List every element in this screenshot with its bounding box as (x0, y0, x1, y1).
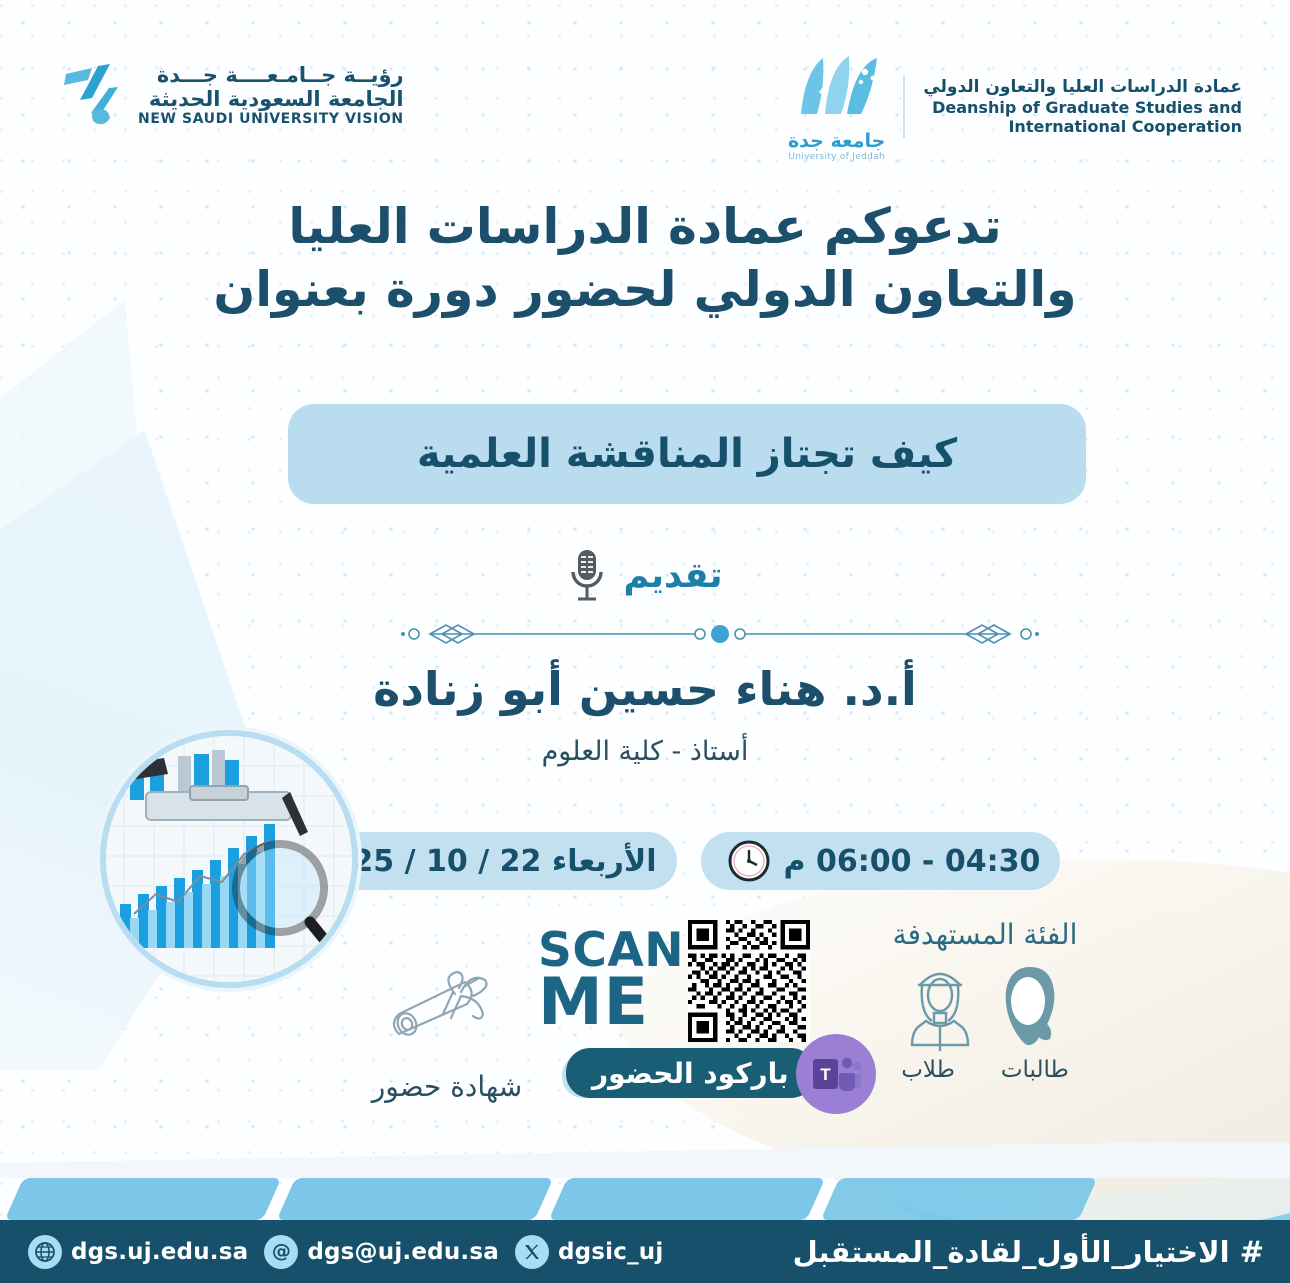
decorative-band (5, 1178, 282, 1220)
decorative-divider (0, 620, 1290, 648)
email-text: dgs@uj.edu.sa (307, 1239, 499, 1265)
event-time: 04:30 - 06:00 م (784, 844, 1041, 879)
footer-contacts: dgs.uj.edu.sa @ dgs@uj.edu.sa dgsic_uj (28, 1235, 663, 1269)
presenter-label: تقديم (623, 556, 722, 596)
university-name-arabic: جامعة جدة (788, 130, 885, 152)
website-text: dgs.uj.edu.sa (71, 1239, 248, 1265)
university-name-english: University of Jeddah (788, 152, 885, 162)
qr-code-icon[interactable] (688, 920, 810, 1042)
decorative-band-row (0, 1178, 1290, 1220)
audience-block: الفئة المستهدفة طالبات (870, 918, 1100, 1083)
audience-male-label: طلاب (901, 1057, 955, 1083)
university-of-jeddah-logo-icon (789, 52, 885, 124)
contact-website[interactable]: dgs.uj.edu.sa (28, 1235, 248, 1269)
at-icon: @ (264, 1235, 298, 1269)
barcode-label: باركود الحضور (592, 1057, 789, 1090)
certificate-block: شهادة حضور (352, 960, 542, 1103)
decorative-band (549, 1178, 826, 1220)
vision-logo-arabic-line2: الجامعة السعودية الحديثة (138, 87, 404, 111)
bar-chart-clipboard-magnifier-icon (100, 736, 352, 988)
decorative-band (277, 1178, 554, 1220)
diploma-scroll-icon (377, 960, 517, 1060)
vision-logo-english: NEW SAUDI UNIVERSITY VISION (138, 111, 404, 127)
decorative-band (821, 1178, 1098, 1220)
male-student-icon (904, 961, 976, 1053)
logo-divider (903, 76, 905, 138)
certificate-label: شهادة حضور (352, 1070, 542, 1103)
contact-x[interactable]: dgsic_uj (515, 1235, 664, 1269)
scan-text-line2: ME (538, 973, 684, 1033)
event-date: الأربعاء 22 / 10 / 2025 (311, 844, 657, 879)
vision-logo: رؤيــة جــامـعــــة جـــدة الجامعة السعو… (52, 58, 404, 132)
barcode-button[interactable]: باركود الحضور (566, 1048, 815, 1098)
campaign-hashtag: # الاختيار_الأول_لقادة_المستقبل (793, 1235, 1264, 1269)
audience-title: الفئة المستهدفة (870, 918, 1100, 951)
vision-logo-arabic-line1: رؤيــة جــامـعــــة جـــدة (138, 63, 404, 87)
microphone-icon (567, 548, 607, 604)
svg-text:T: T (820, 1065, 831, 1084)
footer-bar: dgs.uj.edu.sa @ dgs@uj.edu.sa dgsic_uj #… (0, 1220, 1290, 1283)
globe-icon (28, 1235, 62, 1269)
deanship-english-line2: International Cooperation (923, 117, 1242, 137)
x-handle-text: dgsic_uj (558, 1239, 664, 1265)
audience-female-label: طالبات (1001, 1057, 1069, 1083)
microsoft-teams-icon[interactable]: T (796, 1034, 876, 1114)
vision-2030-mark-icon (52, 58, 126, 132)
time-pill: 04:30 - 06:00 م (701, 832, 1061, 890)
scan-block: SCAN ME (538, 920, 828, 1042)
bar-chart-photo (100, 730, 358, 988)
headline-line2: والتعاون الدولي لحضور دورة بعنوان (0, 259, 1290, 322)
teams-glyph: T (811, 1051, 861, 1097)
contact-email[interactable]: @ dgs@uj.edu.sa (264, 1235, 499, 1269)
x-twitter-icon (515, 1235, 549, 1269)
speaker-name: أ.د. هناء حسين أبو زنادة (0, 662, 1290, 716)
deanship-logo: عمادة الدراسات العليا والتعاون الدولي De… (788, 52, 1242, 162)
deanship-arabic: عمادة الدراسات العليا والتعاون الدولي (923, 77, 1242, 98)
headline-line1: تدعوكم عمادة الدراسات العليا (0, 196, 1290, 259)
female-student-icon (994, 961, 1066, 1053)
clock-icon (727, 839, 771, 883)
course-title: كيف تجتاز المناقشة العلمية (417, 431, 957, 477)
headline: تدعوكم عمادة الدراسات العليا والتعاون ال… (0, 196, 1290, 321)
presenter-header: تقديم (0, 548, 1290, 604)
event-poster: رؤيــة جــامـعــــة جـــدة الجامعة السعو… (0, 0, 1290, 1283)
course-title-banner: كيف تجتاز المناقشة العلمية (288, 404, 1086, 504)
deanship-english-line1: Deanship of Graduate Studies and (923, 98, 1242, 118)
